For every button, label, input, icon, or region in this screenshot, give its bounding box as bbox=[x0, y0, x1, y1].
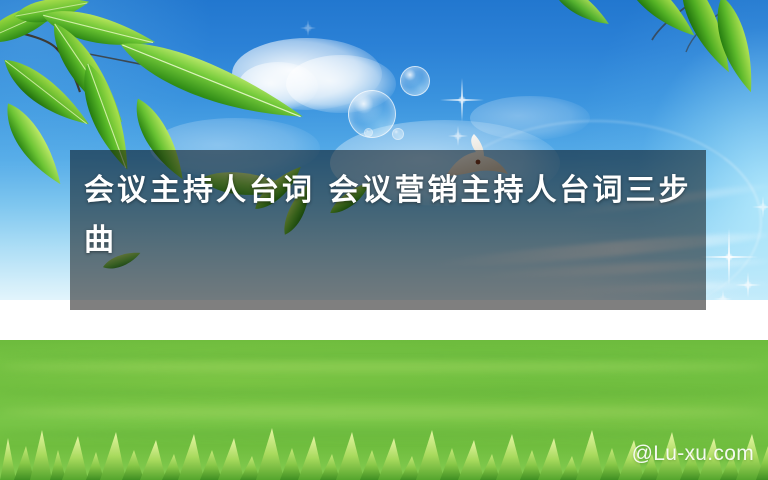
grass-band bbox=[0, 388, 768, 398]
grass-band bbox=[0, 352, 768, 360]
watermark: @Lu-xu.com bbox=[632, 442, 754, 466]
grass-band bbox=[0, 406, 768, 418]
page-title: 会议主持人台词 会议营销主持人台词三步曲 bbox=[84, 166, 704, 266]
banner-image: 会议主持人台词 会议营销主持人台词三步曲 @Lu-xu.com bbox=[0, 0, 768, 480]
grass-band bbox=[0, 362, 768, 372]
